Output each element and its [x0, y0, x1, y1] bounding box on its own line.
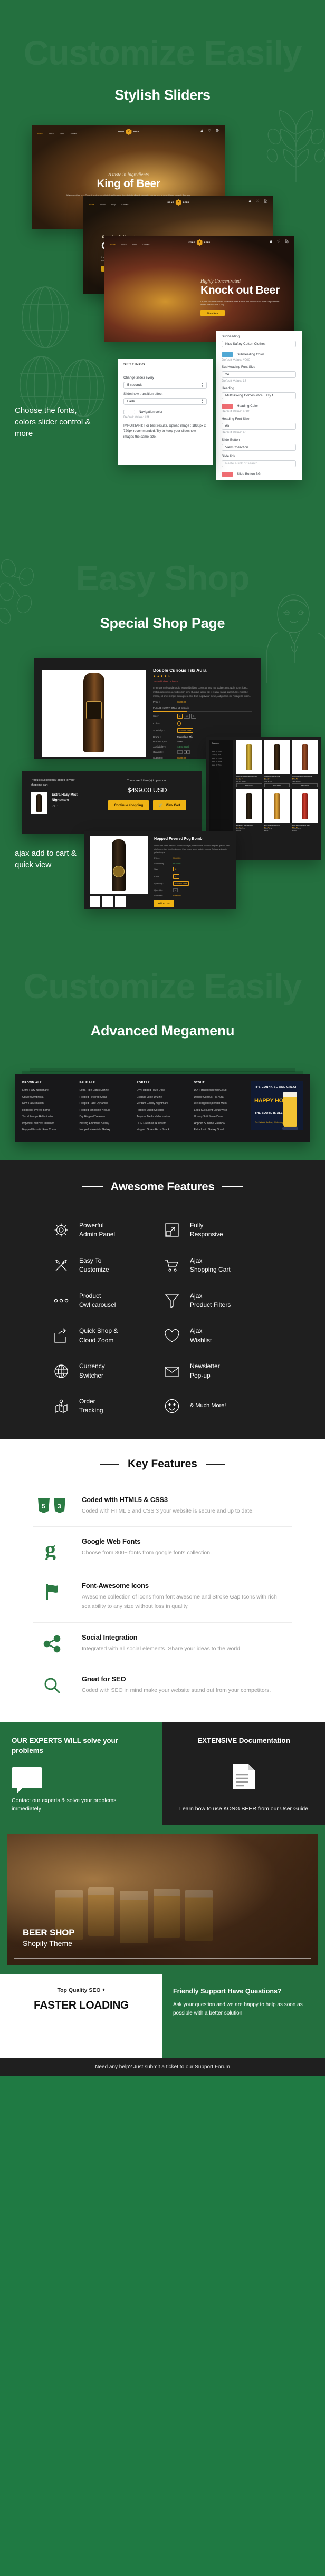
megamenu-item[interactable]: Dry Hopped Treasure	[80, 1115, 132, 1118]
brand-hex-icon-2: K	[176, 199, 181, 206]
quantity-minus-button[interactable]: -	[177, 750, 183, 754]
feature-currency-switcher: Currency Switcher	[52, 1362, 162, 1380]
label-specialty: Specialty *	[153, 729, 177, 732]
cart-bag-icon-3[interactable]: 🛍	[284, 240, 289, 244]
color-swatch-slide-button-bg[interactable]	[222, 472, 233, 477]
nav-item-contact[interactable]: Contact	[70, 133, 77, 135]
experts-subtext: Contact our experts & solve your problem…	[12, 1797, 141, 1814]
megamenu-column-stout: STOUT DDH Transcendental Cloud Double Cu…	[194, 1081, 247, 1135]
brand-right-text: BEER	[133, 131, 139, 133]
swatch-label-slide-button-bg: Slide Button BG	[237, 472, 261, 476]
nav-item-about-3[interactable]: About	[121, 244, 127, 246]
nav-item-contact-2[interactable]: Contact	[121, 204, 128, 206]
seo-small-line: Top Quality SEO +	[11, 1987, 152, 1994]
document-icon	[232, 1763, 256, 1793]
qv-label-specialty: Specialty :	[154, 882, 173, 885]
feature-fully-responsive: Fully Responsive	[162, 1221, 273, 1239]
shopping-cart-icon	[162, 1257, 181, 1273]
slide-header-icons-1[interactable]: ♟ ♡ 🛍	[200, 129, 220, 133]
product-card-image	[292, 789, 318, 823]
brand-mark-letter-2: K	[178, 201, 180, 204]
feature-order-tracking: Order Tracking	[52, 1397, 162, 1416]
seo-big-line: FASTER LOADING	[11, 1999, 152, 2012]
product-color-row[interactable]: Color *	[153, 721, 252, 726]
feature-ajax-product-filters: Ajax Product Filters	[162, 1292, 273, 1310]
quick-view-name: Hopped Fevered Fog Bomb	[154, 837, 231, 841]
sidebar-filter-item[interactable]: Shop By Brand	[212, 760, 231, 762]
svg-text:5: 5	[42, 1503, 45, 1510]
qv-subtotal-row: Subtotal :$500.00	[154, 894, 231, 897]
megamenu-item[interactable]: Imperial Overcast Delusion	[22, 1122, 75, 1125]
default-value-subheading-color: Default Value: #000	[222, 358, 296, 362]
product-card[interactable]: Double Curious Tiki Aura ★★★★★ Ashwell P…	[264, 740, 290, 787]
qv-availability-row: Availability :In Stock	[154, 862, 231, 865]
brand-logo-1: KONG K BEER	[118, 129, 139, 135]
product-card[interactable]: Dry Hopped Sublime Haze Float ★★★★★ Alum…	[292, 740, 318, 787]
product-image-panel	[42, 670, 146, 757]
section-bottom-callouts: Top Quality SEO + FASTER LOADING Friendl…	[0, 1974, 325, 2058]
field-label-heading-font-size: Heading Font Size	[222, 417, 296, 421]
product-card-image	[264, 740, 290, 774]
field-select-change-slides-every[interactable]: 5 seconds ▲▼	[123, 382, 207, 389]
quantity-value[interactable]: 1	[184, 750, 190, 754]
product-sold-text: 16 sold in last 15 hours	[153, 680, 252, 683]
color-swatch-subheading[interactable]	[222, 352, 233, 357]
brand-left-text: KONG	[118, 131, 124, 133]
slide-heading-1: King of Beer	[32, 178, 225, 190]
chat-bubble-icon	[12, 1767, 42, 1788]
field-label-subheading-font-size: SubHeading Font Size	[222, 365, 296, 369]
feature-label: Ajax Product Filters	[190, 1292, 231, 1310]
color-swatch-navigation[interactable]	[123, 410, 135, 414]
key-feature-heading: Social Integration	[82, 1633, 242, 1641]
megamenu-item[interactable]: Dry Hopped Haze Dose	[137, 1089, 189, 1092]
beer-cheers-photo: BEER SHOP Shopify Theme	[7, 1834, 318, 1965]
brand-hex-icon: K	[126, 129, 131, 135]
field-swatch-navigation-color[interactable]: Navigation color	[123, 410, 207, 414]
product-card[interactable]: Extra Ripe Citrus Drizzle ★★★★★ PRICE $5…	[264, 789, 290, 831]
field-input-heading-font-size[interactable]: 60	[222, 423, 296, 430]
megamenu-item[interactable]: Ecstatic Juice Drizzle	[137, 1096, 189, 1099]
quick-view-description: Donec sed lorem dapibus, posuere dui ege…	[154, 844, 231, 855]
cart-bag-icon-2[interactable]: 🛍	[263, 200, 268, 204]
feature-label: Newsletter Pop-up	[190, 1362, 220, 1380]
product-card-button[interactable]: Select options	[236, 783, 262, 787]
sidebar-filter-item[interactable]: Shop By Price	[212, 757, 231, 759]
megamenu-panel[interactable]: BROWN ALE Extra Hazy Nightmare Opulent A…	[15, 1074, 310, 1142]
slide-content-3: Highly Concentrated Knock out Beer Lift …	[104, 278, 294, 316]
section-support-and-docs: OUR EXPERTS WILL solve your problems Con…	[0, 1722, 325, 1825]
sidebar-filter-list[interactable]: Shop By Color Filter By Size Shop By Pri…	[209, 747, 233, 769]
nav-item-home-3[interactable]: Home	[110, 244, 116, 246]
brand-logo-2: KONG K BEER	[168, 199, 189, 206]
documentation-subtext: Learn how to use KONG BEER from our User…	[162, 1805, 325, 1814]
tools-icon	[52, 1257, 71, 1273]
section-title-advanced-megamenu: Advanced Megamenu	[0, 1023, 325, 1039]
friendly-support-panel: Friendly Support Have Questions? Ask you…	[162, 1974, 325, 2058]
cart-popup-message: Product successfully added to your shopp…	[31, 778, 87, 787]
product-card-image	[236, 740, 262, 774]
feature-easy-to-customize: Easy To Customize	[52, 1256, 162, 1275]
key-feature-great-for-seo: Great for SEO Coded with SEO in mind mak…	[33, 1664, 292, 1706]
megamenu-column-brown-ale: BROWN ALE Extra Hazy Nightmare Opulent A…	[22, 1081, 75, 1135]
footer-text: Need any help? Just submit a ticket to o…	[95, 2064, 230, 2070]
awesome-features-title-row: Awesome Features	[0, 1180, 325, 1194]
field-input-slide-link[interactable]: Paste a link or search	[222, 460, 296, 467]
product-size-row[interactable]: Size * L M S	[153, 714, 252, 719]
section-title-special-shop-page: Special Shop Page	[0, 615, 325, 632]
megamenu-item[interactable]: Extra Lucid Galaxy Snack	[194, 1128, 247, 1131]
feature-label: Powerful Admin Panel	[79, 1221, 115, 1239]
qv-label-subtotal: Subtotal :	[154, 894, 173, 897]
key-feature-font-awesome-icons: Font-Awesome Icons Awesome collection of…	[33, 1571, 292, 1623]
megamenu-item[interactable]: Hopped Ecstatic Rain Coma	[22, 1128, 75, 1131]
feature-label: Ajax Wishlist	[190, 1326, 212, 1345]
qv-label-availability: Availability :	[154, 862, 173, 865]
kf-rule-right	[206, 1464, 225, 1465]
quick-view-add-to-cart-button[interactable]: Add to Cart	[154, 900, 174, 907]
field-label-subheading: Subheading	[222, 335, 296, 338]
thumbnail[interactable]	[115, 896, 126, 907]
account-icon-2[interactable]: ♟	[248, 200, 252, 204]
slide-header-icons-2[interactable]: ♟ ♡ 🛍	[248, 200, 268, 204]
select-value-transition-effect: Fade	[127, 400, 135, 403]
svg-text:3: 3	[58, 1503, 61, 1510]
field-input-slide-button[interactable]: View Collection	[222, 444, 296, 451]
product-card-image	[264, 789, 290, 823]
brand-left-text-2: KONG	[168, 201, 174, 204]
key-feature-text: Choose from 800+ fonts from google fonts…	[82, 1548, 212, 1557]
megamenu-item[interactable]: DDH Transcendental Cloud	[194, 1089, 247, 1092]
view-cart-button[interactable]: 🛒 View Cart	[153, 800, 186, 810]
sidebar-filter-item[interactable]: Shop By Type	[212, 764, 231, 766]
awesome-features-title: Awesome Features	[111, 1180, 215, 1194]
product-card-price: $88.00	[264, 830, 290, 831]
awesome-features-grid: Powerful Admin Panel Fully Responsive Ea…	[52, 1221, 273, 1416]
thumbnail[interactable]	[90, 896, 100, 907]
share-box-icon	[52, 1328, 71, 1344]
label-product-type: Product Type :	[153, 740, 177, 743]
megamenu-column-pale-ale: PALE ALE Extra Ripe Citrus Drizzle Hoppe…	[80, 1081, 132, 1135]
field-label-slide-link: Slide link	[222, 454, 296, 458]
brewer-portrait-watermark	[261, 588, 325, 683]
size-option-l[interactable]: L	[177, 714, 183, 719]
default-value-navigation-color: Default Value: #fff	[123, 415, 207, 419]
quick-view-info: Hopped Fevered Fog Bomb Donec sed lorem …	[154, 837, 231, 907]
feature-much-more: & Much More!	[162, 1397, 273, 1416]
qv-label-size: Size :	[154, 868, 173, 870]
hops-watermark	[262, 103, 325, 182]
section-key-features: Key Features 5 3 Coded with HTML5 & CSS3…	[0, 1439, 325, 1722]
feature-ajax-shopping-cart: Ajax Shopping Cart	[162, 1256, 273, 1275]
qv-specialty-row[interactable]: Specialty :Alcohol Free	[154, 881, 231, 886]
view-cart-label: View Cart	[166, 804, 180, 807]
cart-item-qty: Qty: 1	[52, 804, 87, 807]
color-swatch-option[interactable]	[177, 721, 181, 726]
field-label-heading: Heading	[222, 386, 296, 390]
brand-mark-letter-3: K	[199, 241, 201, 244]
envelope-icon	[162, 1366, 181, 1377]
product-card[interactable]: Extra Hazy Mist Nightmare ★★★★★ BREWSKI …	[236, 789, 262, 831]
label-quantity: Quantity :	[153, 751, 177, 753]
megamenu-item[interactable]: DDH Green Murk Dream	[137, 1122, 189, 1125]
brand-mark-letter: K	[128, 130, 130, 133]
megamenu-item[interactable]: Illusory Soft Serve Daze	[194, 1115, 247, 1118]
brand-right-text-3: BEER	[204, 241, 211, 244]
sidebar-filter-item[interactable]: Shop By Color	[212, 750, 231, 752]
section-awesome-features: Awesome Features Powerful Admin Panel Fu…	[0, 1160, 325, 1439]
megamenu-column-porter: PORTER Dry Hopped Haze Dose Ecstatic Jui…	[137, 1081, 189, 1135]
slide-heading-3: Knock out Beer	[200, 284, 294, 297]
product-card[interactable]: DDH Transcendental Cloud Haze ★★★★★ Ashw…	[236, 740, 262, 787]
slide-header-icons-3[interactable]: ♟ ♡ 🛍	[270, 240, 289, 244]
megamenu-item[interactable]: Hopped Smoothie Nebula	[80, 1109, 132, 1112]
slide-button-3[interactable]: Shop Now	[200, 310, 225, 316]
megamenu-item[interactable]: Hopped Sublime Rainbow	[194, 1122, 247, 1125]
size-option-m[interactable]: M	[184, 714, 189, 719]
field-label-change-slides-every: Change slides every	[123, 376, 207, 380]
nav-item-about-2[interactable]: About	[100, 204, 106, 206]
support-heading: Friendly Support Have Questions?	[173, 1987, 314, 1996]
product-name: Double Curious Tiki Aura	[153, 667, 252, 673]
default-value-heading-font-size: Default Value: 40	[222, 431, 296, 434]
key-feature-heading: Great for SEO	[82, 1675, 271, 1683]
swatch-label-navigation-color: Navigation color	[139, 410, 162, 414]
feature-powerful-admin-panel: Powerful Admin Panel	[52, 1221, 162, 1239]
collection-products-grid[interactable]: DDH Transcendental Cloud Haze ★★★★★ Ashw…	[236, 740, 318, 831]
thumbnail[interactable]	[102, 896, 113, 907]
cart-item-thumbnail	[31, 792, 47, 814]
expand-arrow-icon	[162, 1222, 181, 1238]
feature-label: Fully Responsive	[190, 1221, 223, 1239]
qv-color-row[interactable]: Color :☐	[154, 874, 231, 879]
field-select-transition-effect[interactable]: Fade ▲▼	[123, 398, 207, 405]
nav-item-shop[interactable]: Shop	[60, 133, 64, 135]
megamenu-item[interactable]: Tropical Trellis Hallucination	[137, 1115, 189, 1118]
beer-bottle-image	[83, 673, 104, 752]
field-label-transition-effect: Slideshow transition effect	[123, 392, 207, 396]
field-input-heading[interactable]: Multitasking Comes <br> Easy t	[222, 392, 296, 399]
product-specialty-row[interactable]: Specialty * Alcohol Free	[153, 728, 252, 733]
value-brand: Marvelous Mix	[177, 735, 193, 738]
label-availability: Availability :	[153, 745, 177, 748]
quick-view-screenshot[interactable]: Hopped Fevered Fog Bomb Donec sed lorem …	[84, 831, 236, 909]
product-card-price: $490.00	[236, 830, 262, 831]
theme-preview-page: Customize Easily Stylish Sliders	[0, 0, 325, 2076]
product-card-button[interactable]: Select options	[264, 783, 290, 787]
section-advanced-megamenu: Customize Easily Advanced Megamenu BROWN…	[0, 933, 325, 1160]
key-feature-html5-css3: 5 3 Coded with HTML5 & CSS3 Coded with H…	[33, 1485, 292, 1527]
megamenu-item[interactable]: Torrid Frappe Hallucination	[22, 1115, 75, 1118]
feature-label: Product Owl carousel	[79, 1292, 116, 1310]
gear-icon	[52, 1222, 71, 1238]
feature-newsletter-popup: Newsletter Pop-up	[162, 1362, 273, 1380]
wishlist-heart-icon-3[interactable]: ♡	[277, 240, 280, 244]
megamenu-item[interactable]: Hopped Haze Dynamite	[80, 1102, 132, 1105]
feature-ajax-wishlist: Ajax Wishlist	[162, 1326, 273, 1345]
megamenu-item[interactable]: Dew Hallucination	[22, 1102, 75, 1105]
swatch-label-subheading-color: SubHeading Color	[237, 353, 264, 356]
sidebar-header-category: Category	[209, 740, 233, 747]
megamenu-item[interactable]: Opulent Ambrosia	[22, 1096, 75, 1099]
nav-item-about[interactable]: About	[49, 133, 54, 135]
quick-view-image	[90, 836, 148, 894]
stepper-icon[interactable]: ▲▼	[201, 383, 204, 388]
qv-size-row[interactable]: Size :L	[154, 867, 231, 871]
megamenu-item[interactable]: Wet Hopped Splendid Murk	[194, 1102, 247, 1105]
account-icon-3[interactable]: ♟	[270, 240, 273, 244]
feature-label: Easy To Customize	[79, 1256, 109, 1275]
brand-left-text-3: KONG	[189, 241, 195, 244]
stepper-icon-2[interactable]: ▲▼	[201, 399, 204, 404]
megamenu-item[interactable]: Double Curious Tiki Aura	[194, 1096, 247, 1099]
settings-panel-header: SETTINGS	[118, 359, 213, 371]
cart-total-price: $499.00 USD	[101, 786, 193, 794]
label-price: Price :	[153, 701, 177, 703]
slide-settings-panel[interactable]: Subheading Kids Saftey Cotton Clothes Su…	[216, 331, 302, 480]
feature-quick-shop-cloud-zoom: Quick Shop & Cloud Zoom	[52, 1326, 162, 1345]
field-swatch-subheading-color[interactable]: SubHeading Color	[222, 352, 296, 357]
account-icon[interactable]: ♟	[200, 129, 204, 133]
value-subtotal: $500.00	[177, 757, 186, 759]
key-feature-heading: Font-Awesome Icons	[82, 1582, 292, 1590]
field-input-subheading-font-size[interactable]: 24	[222, 371, 296, 378]
key-feature-google-web-fonts: g Google Web Fonts Choose from 800+ font…	[33, 1527, 292, 1571]
qv-label-quantity: Quantity :	[154, 889, 173, 892]
megamenu-item[interactable]: Extra Ripe Citrus Drizzle	[80, 1089, 132, 1092]
feature-label: Currency Switcher	[79, 1362, 105, 1380]
nav-item-home[interactable]: Home	[37, 133, 43, 135]
size-option-s[interactable]: S	[191, 714, 197, 719]
specialty-option[interactable]: Alcohol Free	[177, 728, 193, 733]
cart-item-count-text: There are 1 item(s) in your cart	[101, 779, 193, 782]
nav-item-shop-2[interactable]: Shop	[111, 204, 116, 206]
ajax-add-to-cart-copy: ajax add to cart & quick view	[15, 848, 83, 871]
cart-bag-icon[interactable]: 🛍	[215, 129, 220, 133]
section-special-shop-page: Easy Shop Special Shop Page	[0, 538, 325, 933]
google-g-icon: g	[33, 1537, 71, 1560]
wishlist-heart-icon-2[interactable]: ♡	[256, 200, 259, 204]
map-pin-icon	[52, 1398, 71, 1414]
product-card-price: Price: $75.00	[264, 781, 290, 782]
field-label-slide-button: Slide Button	[222, 438, 296, 442]
ghost-heading-easy-shop: Easy Shop	[0, 558, 325, 598]
select-value-change-slides-every: 5 seconds	[127, 383, 142, 387]
beer-glass-image	[280, 1087, 301, 1130]
slide-paragraph-3: Lift your shoulders above it & will neve…	[200, 300, 281, 306]
megamenu-heading: PALE ALE	[80, 1081, 132, 1084]
qv-quantity-row[interactable]: Quantity :-	[154, 888, 231, 892]
key-features-title: Key Features	[128, 1458, 197, 1470]
product-stock-hurry: PLEASE HURRY! ONLY 13 In Stock	[153, 706, 252, 709]
rule-right	[222, 1186, 243, 1187]
field-swatch-slide-button-bg[interactable]: Slide Button BG	[222, 472, 296, 477]
stock-progress-bar	[153, 711, 252, 712]
default-value-subheading-font-size: Default Value: 18	[222, 379, 296, 383]
megamenu-item[interactable]: Hopped Lucid Cocktail	[137, 1109, 189, 1112]
default-value-heading-color: Default Value: #000	[222, 410, 296, 413]
svg-text:g: g	[45, 1539, 56, 1560]
field-swatch-heading-color[interactable]: Heading Color	[222, 404, 296, 409]
wishlist-heart-icon[interactable]: ♡	[208, 129, 211, 133]
qv-label-color: Color :	[154, 875, 173, 878]
slide-subheading-1: A taste in Ingredients	[32, 172, 225, 177]
key-features-title-row: Key Features	[0, 1458, 325, 1470]
nav-item-contact-3[interactable]: Contact	[142, 244, 149, 246]
megamenu-item[interactable]: Hopped Fevered Citrus	[80, 1096, 132, 1099]
megamenu-item[interactable]: Hopped Hazedelic Galaxy	[80, 1128, 132, 1131]
key-feature-social-integration: Social Integration Integrated with all s…	[33, 1623, 292, 1664]
field-input-subheading[interactable]: Kids Saftey Cotton Clothes	[222, 341, 296, 347]
value-price: $500.00	[177, 701, 186, 703]
product-card-image	[236, 789, 262, 823]
megamenu-item[interactable]: Extra Hazy Nightmare	[22, 1089, 75, 1092]
product-card[interactable]: Extra Succulent Citrus Wisp ★★★★★ MARKET…	[292, 789, 318, 831]
cart-item-name: Extra Hazy Mist Nightmare	[52, 792, 87, 802]
funnel-filter-icon	[162, 1293, 181, 1309]
product-card-price: $90.00 - $95.00	[236, 781, 262, 782]
brand-hex-icon-3: K	[197, 239, 203, 246]
megamenu-item[interactable]: Extra Succulent Citrus Wisp	[194, 1109, 247, 1112]
settings-important-note: IMPORTANT: For best results. Upload imag…	[123, 423, 207, 440]
qv-label-price: Price :	[154, 857, 173, 859]
ajax-cart-popup[interactable]: Product successfully added to your shopp…	[22, 771, 202, 834]
documentation-heading: EXTENSIVE Documentation	[174, 1736, 313, 1746]
smiley-icon	[162, 1398, 181, 1414]
product-card-button[interactable]: Select options	[292, 783, 318, 787]
product-card-image	[292, 740, 318, 774]
megamenu-item[interactable]: Verdant Galaxy Nightmare	[137, 1102, 189, 1105]
magnifier-icon	[33, 1675, 71, 1694]
product-card-price: $109.00	[292, 830, 318, 831]
megamenu-item[interactable]: Blazing Ambrosia Slushy	[80, 1122, 132, 1125]
megamenu-item[interactable]: Hopped Fevered Bomb	[22, 1109, 75, 1112]
nav-item-home-2[interactable]: Home	[89, 204, 94, 206]
ghost-heading-customize-easily: Customize Easily	[0, 33, 325, 73]
sidebar-filter-item[interactable]: Filter By Size	[212, 753, 231, 756]
section-title-stylish-sliders: Stylish Sliders	[0, 87, 325, 103]
value-availability: 13 In Stock	[177, 745, 189, 748]
slide-subheading-3: Highly Concentrated	[200, 278, 294, 284]
experts-panel: OUR EXPERTS WILL solve your problems Con…	[0, 1722, 162, 1825]
key-feature-text: Integrated with all social elements. Sha…	[82, 1644, 242, 1653]
brand-logo-3: KONG K BEER	[189, 239, 211, 246]
product-rating-stars: ★★★★☆	[153, 674, 252, 679]
quick-view-thumbnails[interactable]	[90, 896, 126, 907]
color-swatch-heading[interactable]	[222, 404, 233, 409]
megamenu-heading: BROWN ALE	[22, 1081, 75, 1084]
product-price-row: Price : $500.00	[153, 701, 252, 703]
section-photo-banner: BEER SHOP Shopify Theme	[0, 1825, 325, 1974]
megamenu-promo-banner[interactable]: IT'S GONNA BE ONE GREAT HAPPY HOUR THE B…	[251, 1081, 303, 1130]
slideshow-settings-panel[interactable]: SETTINGS Change slides every 5 seconds ▲…	[118, 359, 213, 465]
sliders-side-copy: Choose the fonts, colors slider control …	[15, 405, 94, 439]
photo-caption: BEER SHOP Shopify Theme	[23, 1928, 74, 1948]
feature-label: Ajax Shopping Cart	[190, 1256, 231, 1275]
nav-item-shop-3[interactable]: Shop	[132, 244, 137, 246]
share-nodes-icon	[33, 1633, 71, 1653]
seo-speed-panel: Top Quality SEO + FASTER LOADING	[0, 1974, 162, 2058]
megamenu-item[interactable]: Hopped Green Haze Snack	[137, 1128, 189, 1131]
key-feature-heading: Google Web Fonts	[82, 1537, 212, 1545]
kf-rule-left	[100, 1464, 119, 1465]
continue-shopping-button[interactable]: Continue shopping	[108, 800, 149, 810]
flag-icon	[33, 1582, 71, 1601]
label-subtotal: Subtotal :	[153, 757, 177, 759]
slider-screenshot-3[interactable]: Home About Shop Contact KONG K BEER ♟ ♡ …	[104, 236, 294, 342]
feature-label: & Much More!	[190, 1402, 226, 1410]
megamenu-heading: STOUT	[194, 1081, 247, 1084]
